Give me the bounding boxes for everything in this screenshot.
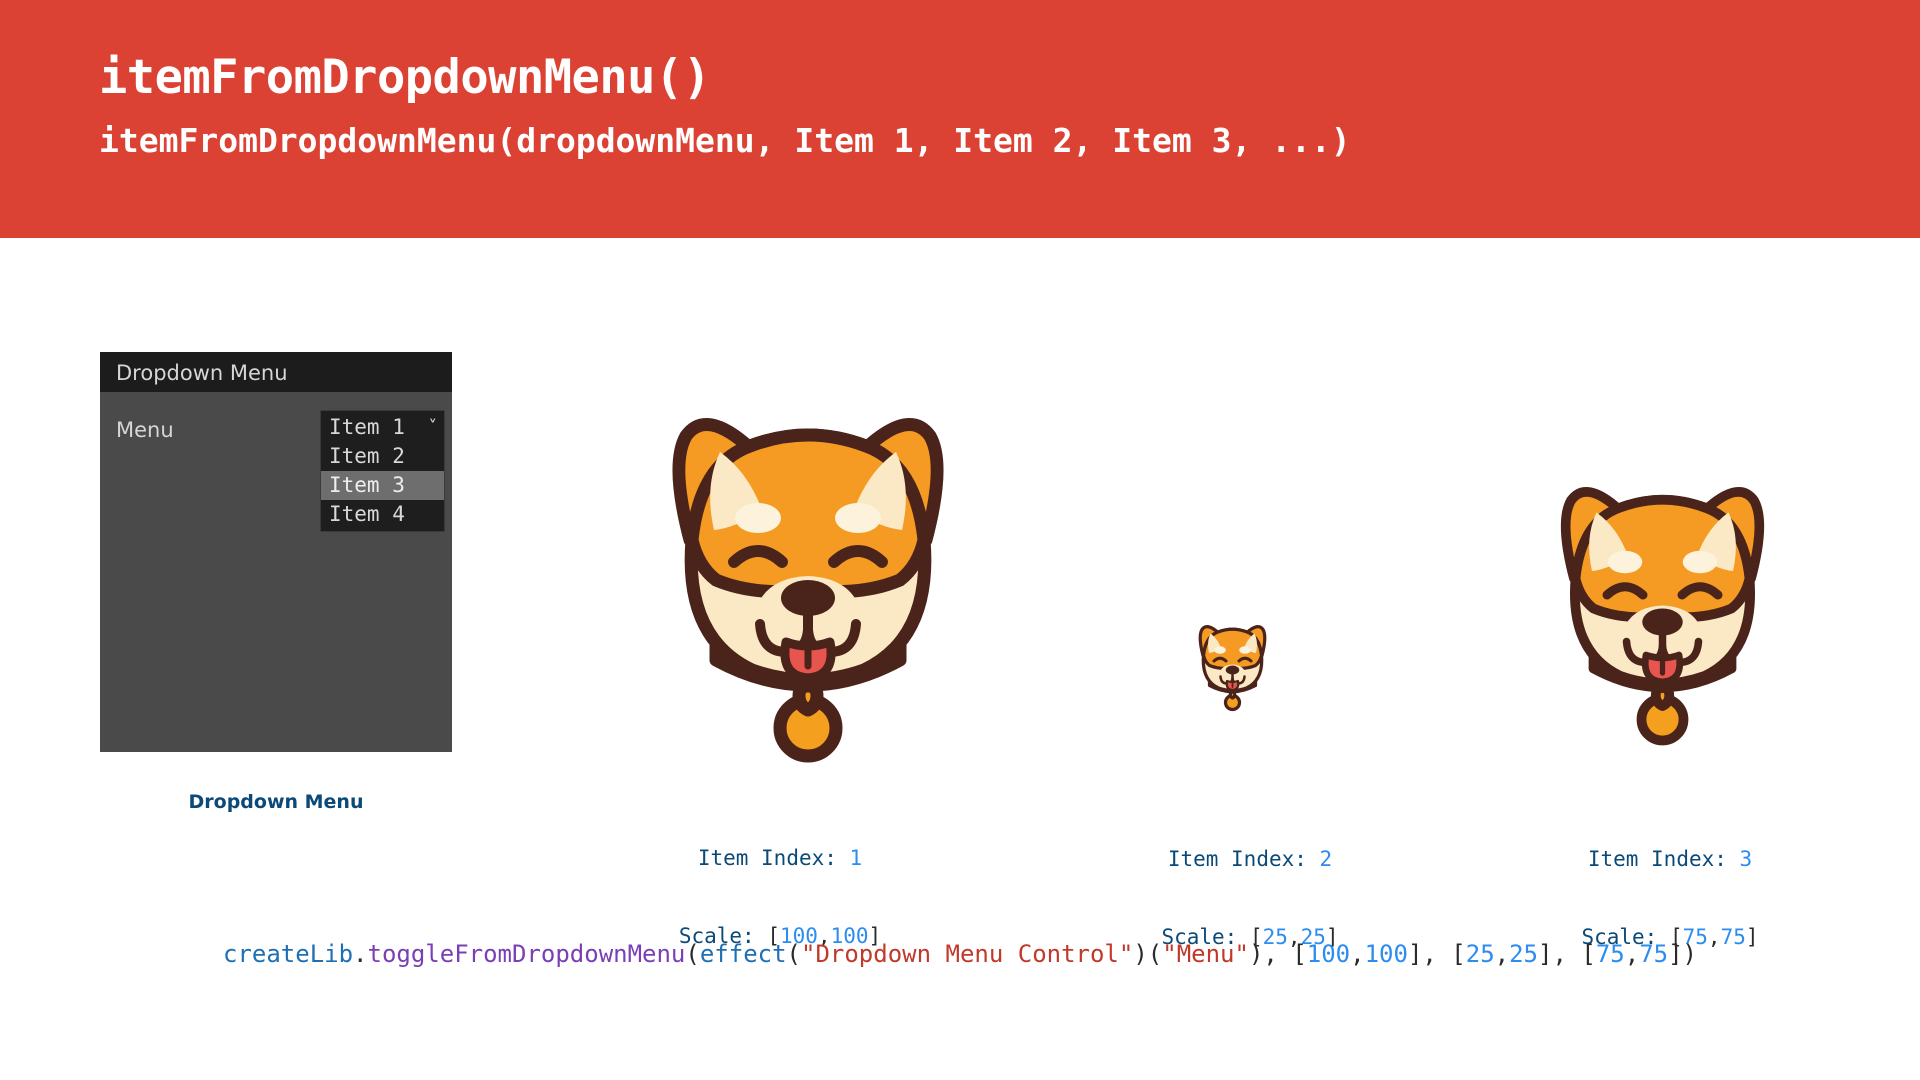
code-arr3-y: 75 bbox=[1639, 940, 1668, 968]
item-index-label: Item Index: bbox=[1588, 847, 1740, 871]
code-bracket-open: [ bbox=[1581, 940, 1595, 968]
menu-row-label: Menu bbox=[116, 418, 174, 442]
code-comma: , bbox=[1552, 940, 1581, 968]
code-arr2-x: 25 bbox=[1466, 940, 1495, 968]
item-index-value: 3 bbox=[1740, 847, 1753, 871]
item-index-line: Item Index: 1 bbox=[600, 845, 960, 871]
code-arr1-x: 100 bbox=[1307, 940, 1350, 968]
item-index-label: Item Index: bbox=[698, 846, 850, 870]
code-comma: , bbox=[1350, 940, 1364, 968]
panel-titlebar: Dropdown Menu bbox=[100, 352, 452, 392]
code-paren-open: ( bbox=[1148, 940, 1162, 968]
code-dot: . bbox=[353, 940, 367, 968]
code-bracket-close: ] bbox=[1408, 940, 1422, 968]
dropdown-option-item-1[interactable]: Item 1 ˅ bbox=[321, 413, 444, 442]
code-paren-open: ( bbox=[787, 940, 801, 968]
code-comma: , bbox=[1625, 940, 1639, 968]
dropdown-menu-panel: Dropdown Menu Menu Item 1 ˅ Item 2 Item … bbox=[100, 352, 452, 752]
figure-caption: Item Index: 2 Scale: [25,25] bbox=[1070, 794, 1430, 1002]
header-banner: itemFromDropdownMenu() itemFromDropdownM… bbox=[0, 0, 1920, 238]
code-paren-open: ( bbox=[685, 940, 699, 968]
code-prop-name: "Menu" bbox=[1162, 940, 1249, 968]
code-bracket-close: ] bbox=[1538, 940, 1552, 968]
shiba-inu-dog-icon bbox=[1195, 618, 1270, 713]
item-index-value: 1 bbox=[850, 846, 863, 870]
function-signature: itemFromDropdownMenu(dropdownMenu, Item … bbox=[99, 120, 1351, 162]
code-object: createLib bbox=[223, 940, 353, 968]
shiba-inu-dog-icon bbox=[1550, 466, 1775, 751]
code-arr1-y: 100 bbox=[1365, 940, 1408, 968]
item-index-line: Item Index: 2 bbox=[1070, 846, 1430, 872]
code-paren-close: ) bbox=[1133, 940, 1147, 968]
dropdown-option-item-2[interactable]: Item 2 bbox=[321, 442, 444, 471]
code-comma: , bbox=[1495, 940, 1509, 968]
code-comma: , bbox=[1422, 940, 1451, 968]
dropdown-option-label: Item 2 bbox=[329, 442, 405, 471]
code-bracket-open: [ bbox=[1451, 940, 1465, 968]
code-paren-close: ) bbox=[1683, 940, 1697, 968]
shiba-inu-dog-icon bbox=[658, 390, 958, 770]
panel-caption: Dropdown Menu bbox=[100, 790, 452, 814]
code-comma: , bbox=[1263, 940, 1292, 968]
item-index-value: 2 bbox=[1320, 847, 1333, 871]
code-effect-name: "Dropdown Menu Control" bbox=[801, 940, 1133, 968]
code-bracket-close: ] bbox=[1668, 940, 1682, 968]
panel-title-label: Dropdown Menu bbox=[116, 361, 288, 385]
code-paren-close: ) bbox=[1249, 940, 1263, 968]
dropdown-option-label: Item 1 bbox=[329, 413, 405, 442]
code-arr3-x: 75 bbox=[1596, 940, 1625, 968]
page-title: itemFromDropdownMenu() bbox=[99, 50, 711, 106]
code-effect-fn: effect bbox=[700, 940, 787, 968]
dropdown-option-label: Item 4 bbox=[329, 500, 405, 529]
dropdown-option-item-3[interactable]: Item 3 bbox=[321, 471, 444, 500]
check-icon: ˅ bbox=[429, 413, 438, 442]
item-index-label: Item Index: bbox=[1168, 847, 1320, 871]
dropdown-option-item-4[interactable]: Item 4 bbox=[321, 500, 444, 529]
code-arr2-y: 25 bbox=[1509, 940, 1538, 968]
code-example-line: createLib.toggleFromDropdownMenu(effect(… bbox=[0, 938, 1920, 970]
dropdown-option-label: Item 3 bbox=[329, 471, 405, 500]
item-index-line: Item Index: 3 bbox=[1490, 846, 1850, 872]
page-root: itemFromDropdownMenu() itemFromDropdownM… bbox=[0, 0, 1920, 1080]
figure-caption: Item Index: 3 Scale: [75,75] bbox=[1490, 794, 1850, 1002]
dropdown-options-list[interactable]: Item 1 ˅ Item 2 Item 3 Item 4 bbox=[320, 410, 445, 532]
code-method: toggleFromDropdownMenu bbox=[368, 940, 686, 968]
code-bracket-open: [ bbox=[1292, 940, 1306, 968]
